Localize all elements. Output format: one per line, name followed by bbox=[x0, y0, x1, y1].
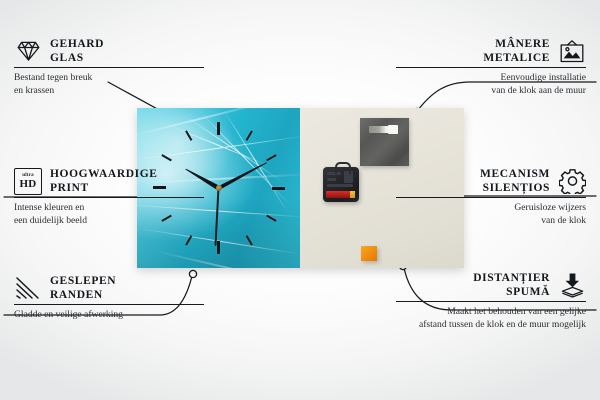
feature-title-line1: MÂNERE bbox=[495, 38, 550, 50]
hanger-slot-hole bbox=[388, 125, 398, 134]
mechanism-detail bbox=[327, 184, 353, 187]
feature-title: DISTANȚIERSPUMĂ bbox=[473, 271, 550, 299]
feature-title: GESLEPENRANDEN bbox=[50, 274, 116, 302]
hd-badge-hd-text: HD bbox=[20, 179, 37, 190]
feature-title-line1: DISTANȚIER bbox=[473, 272, 550, 284]
feature-distantier-spuma: DISTANȚIERSPUMĂ Maakt het behouden van e… bbox=[396, 270, 586, 332]
feature-title-line2: SPUMĂ bbox=[506, 286, 550, 298]
feature-hoogwaardige-print: ultra HD HOOGWAARDIGEPRINT Intense kleur… bbox=[14, 166, 204, 228]
framed-picture-hook-icon bbox=[558, 37, 586, 65]
mechanism-battery bbox=[326, 191, 355, 198]
feature-divider bbox=[14, 67, 204, 68]
feature-desc-line1: Gladde en veilige afwerking bbox=[14, 309, 123, 320]
feature-description: Gladde en veilige afwerking bbox=[14, 309, 204, 322]
feature-header: DISTANȚIERSPUMĂ bbox=[396, 270, 586, 300]
feature-gehard-glas: GEHARDGLAS Bestand tegen breuk en krasse… bbox=[14, 36, 204, 98]
metal-hanger-plate bbox=[360, 118, 409, 166]
foam-spacer-part bbox=[361, 246, 377, 261]
feature-divider bbox=[14, 197, 204, 198]
feature-description: Geruisloze wijzers van de klok bbox=[396, 202, 586, 228]
mechanism-detail bbox=[327, 178, 336, 181]
diagonal-lines-icon bbox=[14, 274, 42, 302]
feature-desc-line1: Eenvoudige installatie bbox=[500, 72, 586, 83]
feature-title: MECANISMSILENȚIOS bbox=[480, 167, 550, 195]
feature-description: Maakt het behouden van een gelijke afsta… bbox=[396, 306, 586, 332]
feature-header: ultra HD HOOGWAARDIGEPRINT bbox=[14, 166, 204, 196]
feature-title-line2: SILENȚIOS bbox=[483, 182, 550, 194]
feature-title-line1: MECANISM bbox=[480, 168, 550, 180]
feature-desc-line2: van de klok bbox=[541, 215, 586, 226]
infographic-canvas: GEHARDGLAS Bestand tegen breuk en krasse… bbox=[0, 0, 600, 400]
feature-desc-line1: Geruisloze wijzers bbox=[514, 202, 586, 213]
feature-title-line1: GEHARD bbox=[50, 38, 104, 50]
hd-badge-ultra-text: ultra bbox=[22, 173, 34, 178]
diamond-icon bbox=[14, 37, 42, 65]
feature-title-line1: HOOGWAARDIGE bbox=[50, 168, 158, 180]
feature-title: MÂNEREMETALICE bbox=[483, 37, 550, 65]
feature-divider bbox=[396, 197, 586, 198]
feature-divider bbox=[396, 301, 586, 302]
mechanism-hanging-loop bbox=[335, 162, 351, 174]
feature-header: GESLEPENRANDEN bbox=[14, 273, 204, 303]
feature-header: MECANISMSILENȚIOS bbox=[396, 166, 586, 196]
feature-header: MÂNEREMETALICE bbox=[396, 36, 586, 66]
feature-description: Intense kleuren en een duidelijk beeld bbox=[14, 202, 204, 228]
feature-divider bbox=[396, 67, 586, 68]
feature-title: HOOGWAARDIGEPRINT bbox=[50, 167, 158, 195]
battery-terminal bbox=[350, 191, 355, 198]
feature-description: Bestand tegen breuk en krassen bbox=[14, 72, 204, 98]
feature-description: Eenvoudige installatie van de klok aan d… bbox=[396, 72, 586, 98]
feature-title: GEHARDGLAS bbox=[50, 37, 104, 65]
hd-badge-box: ultra HD bbox=[14, 168, 42, 195]
arrow-onto-layers-icon bbox=[558, 271, 586, 299]
feature-title-line2: PRINT bbox=[50, 182, 89, 194]
feature-title-line1: GESLEPEN bbox=[50, 275, 116, 287]
feature-desc-line1: Bestand tegen breuk bbox=[14, 72, 92, 83]
feature-desc-line1: Intense kleuren en bbox=[14, 202, 84, 213]
feature-desc-line2: van de klok aan de muur bbox=[491, 85, 586, 96]
feature-desc-line2: en krassen bbox=[14, 85, 54, 96]
feature-desc-line1: Maakt het behouden van een gelijke bbox=[447, 306, 586, 317]
feature-title-line2: METALICE bbox=[483, 52, 550, 64]
feature-desc-line2: afstand tussen de klok en de muur mogeli… bbox=[419, 319, 586, 330]
feature-header: GEHARDGLAS bbox=[14, 36, 204, 66]
ultra-hd-badge-icon: ultra HD bbox=[14, 167, 42, 195]
feature-title-line2: RANDEN bbox=[50, 289, 103, 301]
feature-desc-line2: een duidelijk beeld bbox=[14, 215, 87, 226]
feature-mecanism-silentios: MECANISMSILENȚIOS Geruisloze wijzers van… bbox=[396, 166, 586, 228]
feature-geslepen-randen: GESLEPENRANDEN Gladde en veilige afwerki… bbox=[14, 273, 204, 322]
feature-manere-metalice: MÂNEREMETALICE Eenvoudige installatie va… bbox=[396, 36, 586, 98]
gear-icon bbox=[558, 167, 586, 195]
feature-title-line2: GLAS bbox=[50, 52, 84, 64]
feature-divider bbox=[14, 304, 204, 305]
